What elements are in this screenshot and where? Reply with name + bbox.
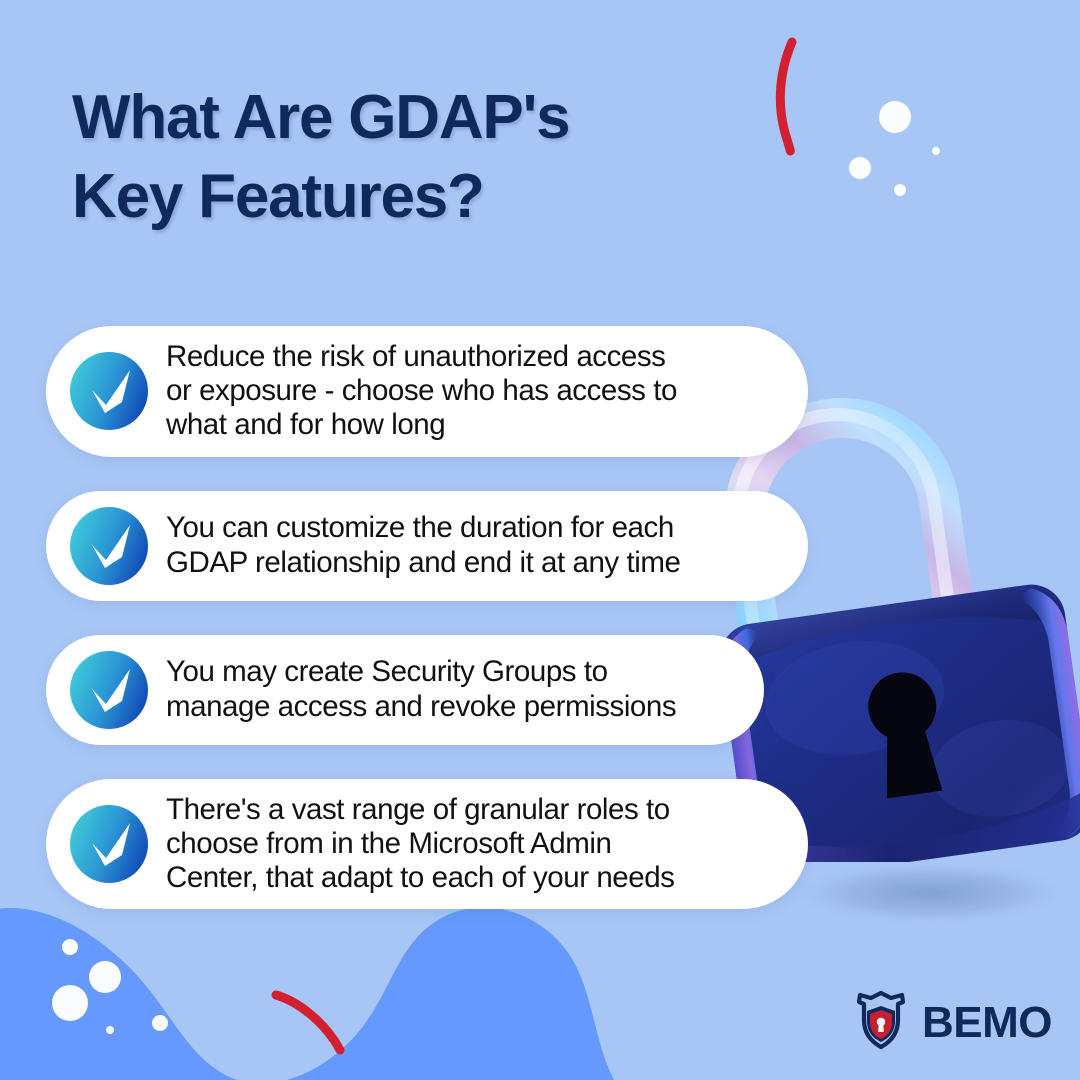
red-arc-top [780, 42, 792, 151]
dot-white [152, 1015, 168, 1031]
feature-text: You may create Security Groups to manage… [166, 655, 676, 723]
feature-text: There's a vast range of granular roles t… [166, 793, 674, 896]
dot-white [52, 985, 88, 1021]
check-circle-icon [68, 505, 150, 587]
dot-white [106, 1026, 114, 1034]
feature-text: You can customize the duration for each … [166, 511, 680, 579]
check-circle-icon [68, 649, 150, 731]
feature-card: There's a vast range of granular roles t… [46, 779, 808, 910]
dot-white [932, 147, 940, 155]
dot-white [879, 101, 911, 133]
page-title: What Are GDAP's Key Features? [72, 78, 772, 237]
red-arc-bottom [276, 995, 340, 1050]
dot-white [849, 157, 871, 179]
feature-card: You may create Security Groups to manage… [46, 635, 764, 745]
bemo-wordmark: BEMO [922, 1001, 1052, 1045]
feature-card: Reduce the risk of unauthorized access o… [46, 326, 808, 457]
infographic-canvas: What Are GDAP's Key Features? [0, 0, 1080, 1080]
dot-white [894, 184, 906, 196]
feature-text: Reduce the risk of unauthorized access o… [166, 340, 677, 443]
check-circle-icon [68, 350, 150, 432]
title-line-1: What Are GDAP's [72, 78, 772, 157]
bemo-shield-lock-icon [850, 989, 912, 1056]
feature-list: Reduce the risk of unauthorized access o… [46, 326, 846, 943]
dot-white [89, 961, 121, 993]
check-circle-icon [68, 803, 150, 885]
feature-card: You can customize the duration for each … [46, 491, 808, 601]
bemo-logo[interactable]: BEMO [850, 989, 1052, 1056]
title-line-2: Key Features? [72, 157, 772, 236]
